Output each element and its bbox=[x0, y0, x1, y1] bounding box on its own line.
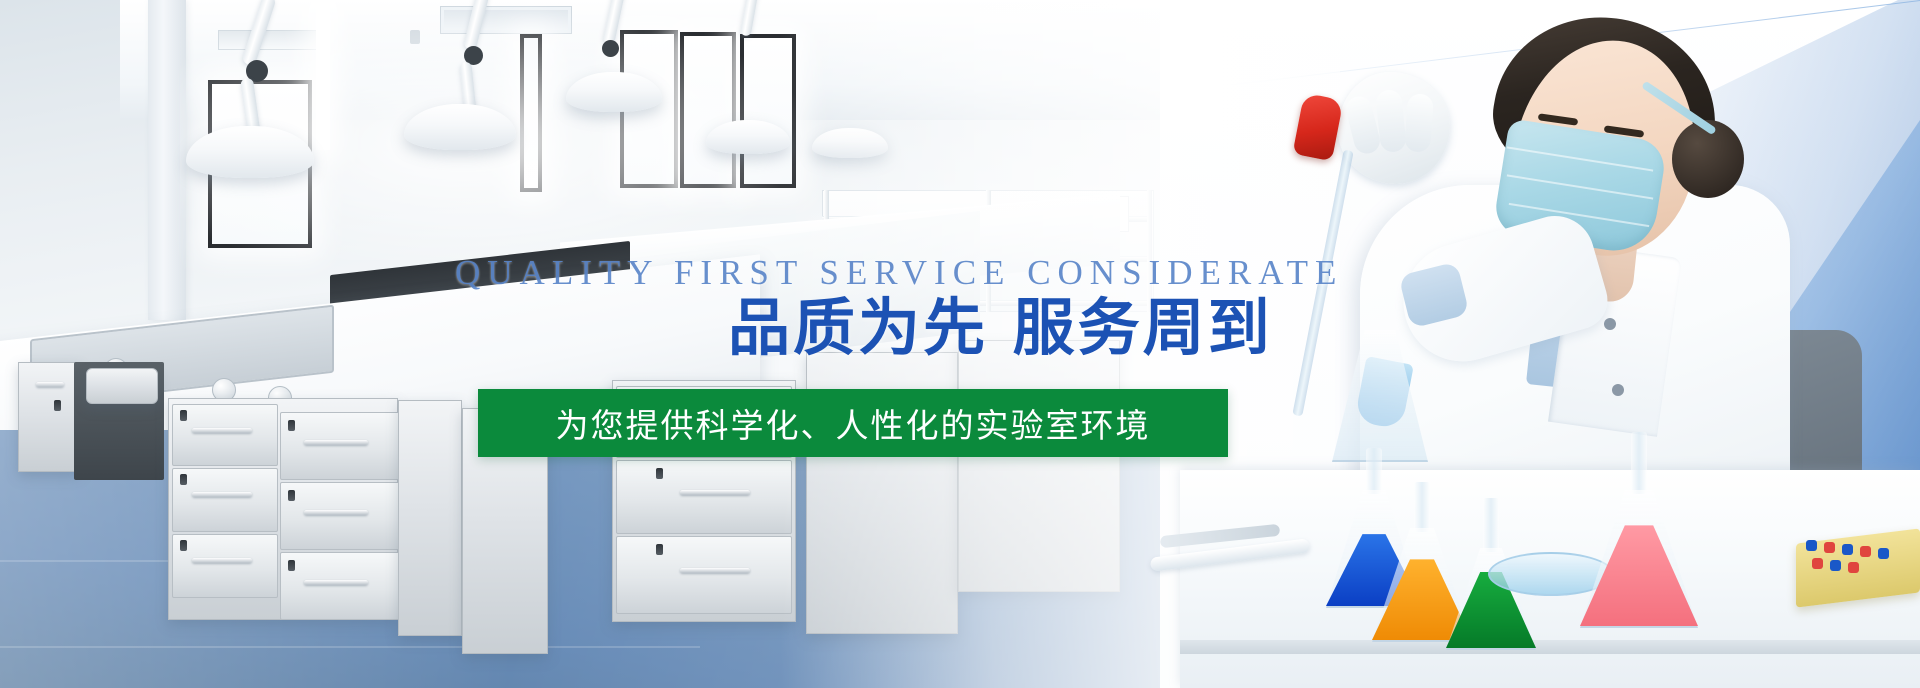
hero-banner: QUALITY FIRST SERVICE CONSIDERATE 品质为先 服… bbox=[0, 0, 1920, 688]
banner-headline: 品质为先 服务周到 bbox=[728, 297, 1273, 359]
banner-copy: QUALITY FIRST SERVICE CONSIDERATE 品质为先 服… bbox=[0, 0, 1920, 688]
banner-eyebrow-text: QUALITY FIRST SERVICE CONSIDERATE bbox=[455, 253, 1343, 293]
banner-subtitle-text: 为您提供科学化、人性化的实验室环境 bbox=[556, 399, 1151, 447]
banner-subtitle-bar: 为您提供科学化、人性化的实验室环境 bbox=[478, 389, 1228, 457]
